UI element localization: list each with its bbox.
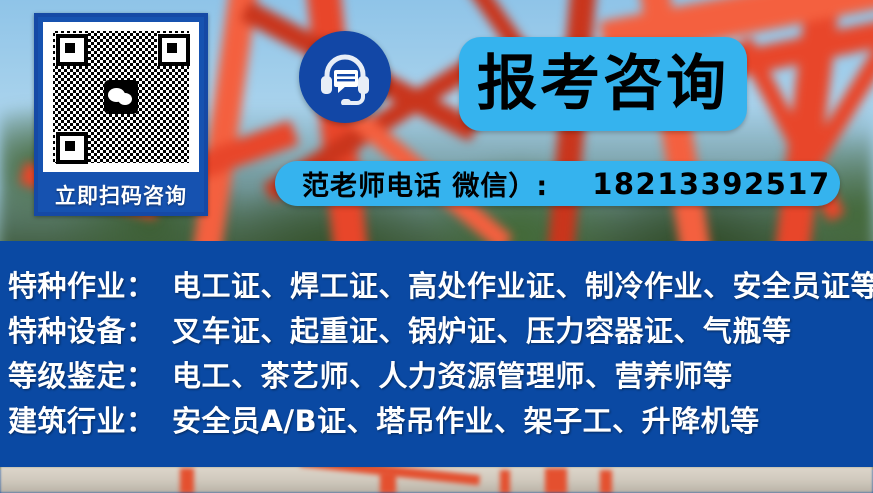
category-items: 电工证、焊工证、高处作业证、制冷作业、安全员证等 [172,269,873,303]
qr-code-card[interactable]: 立即扫码咨询 [34,13,208,216]
qr-finder-top-left [55,33,85,63]
title-badge: 报考咨询 [459,37,747,131]
category-label: 特种作业： [8,263,158,305]
promo-poster: 立即扫码咨询 报考咨询 范老师电话 微信）: 18213392517 特种作业：… [0,0,873,493]
bottom-photo-strip [0,466,873,493]
certificate-list-panel: 特种作业：电工证、焊工证、高处作业证、制冷作业、安全员证等 特种设备：叉车证、起… [0,241,873,467]
list-item: 等级鉴定：电工、茶艺师、人力资源管理师、营养师等 [8,353,733,395]
phone-label: 范老师电话 微信）: [302,164,548,203]
qr-code-area [43,22,199,172]
qr-code-image [49,27,193,167]
list-item: 建筑行业：安全员A/B证、塔吊作业、架子工、升降机等 [8,398,760,440]
qr-quiet-zone-left [49,27,53,167]
category-items: 电工、茶艺师、人力资源管理师、营养师等 [172,359,733,393]
list-item: 特种作业：电工证、焊工证、高处作业证、制冷作业、安全员证等 [8,263,873,305]
headset-support-icon [299,31,391,123]
qr-quiet-zone-top [49,27,193,31]
list-item: 特种设备：叉车证、起重证、锅炉证、压力容器证、气瓶等 [8,308,792,350]
wechat-icon [104,80,138,114]
category-items: 安全员A/B证、塔吊作业、架子工、升降机等 [172,404,760,438]
category-label: 建筑行业： [8,398,158,440]
category-items: 叉车证、起重证、锅炉证、压力容器证、气瓶等 [172,314,792,348]
qr-caption: 立即扫码咨询 [38,180,204,210]
category-label: 等级鉴定： [8,353,158,395]
title-text: 报考咨询 [477,54,729,114]
qr-finder-bottom-left [55,131,85,161]
phone-number: 18213392517 [592,167,830,201]
phone-contact-badge[interactable]: 范老师电话 微信）: 18213392517 [275,161,840,206]
category-label: 特种设备： [8,308,158,350]
qr-finder-top-right [157,33,187,63]
